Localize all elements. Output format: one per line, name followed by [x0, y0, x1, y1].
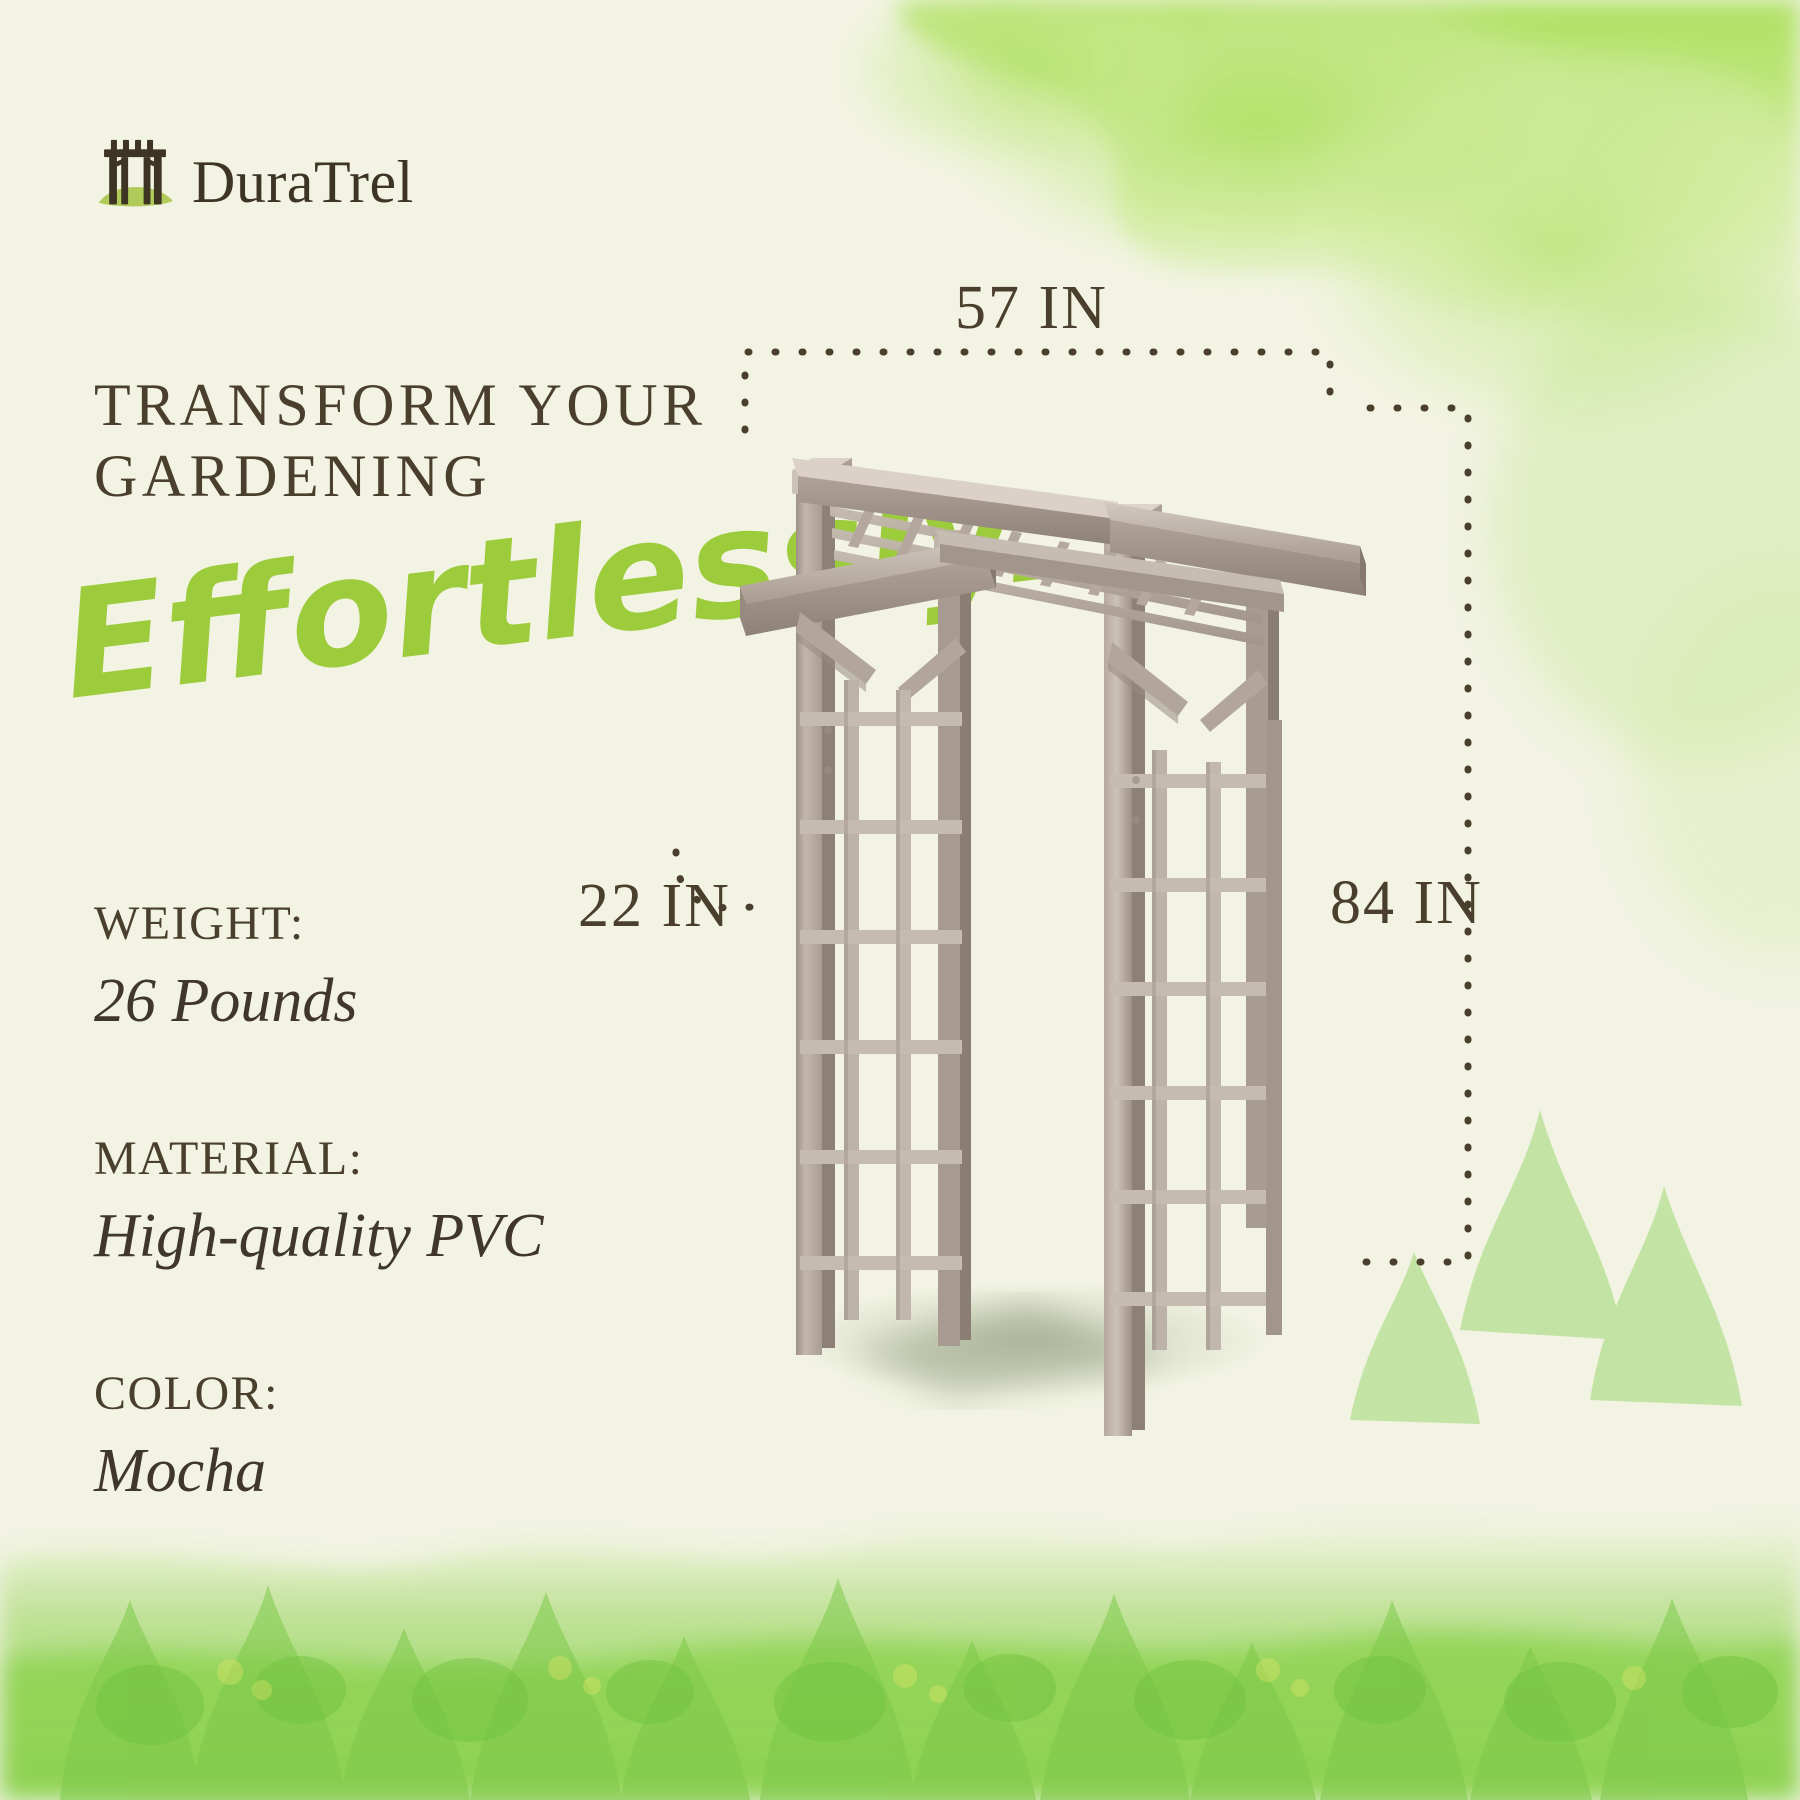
spec-material: MATERIAL: High-quality PVC — [94, 1135, 543, 1267]
spec-color-value: Mocha — [94, 1440, 279, 1502]
spec-material-value: High-quality PVC — [94, 1205, 543, 1267]
spec-color-label: COLOR: — [94, 1370, 279, 1418]
spec-weight-label: WEIGHT: — [94, 900, 358, 948]
dimension-depth-label: 22 IN — [578, 875, 731, 937]
spec-weight: WEIGHT: 26 Pounds — [94, 900, 358, 1032]
headline-line-1: TRANSFORM YOUR — [94, 372, 707, 438]
product-image-arbor — [700, 350, 1420, 1460]
dimension-width-label: 57 IN — [955, 277, 1108, 339]
brand-name: DuraTrel — [192, 152, 414, 212]
brand-logo: DuraTrel — [92, 128, 414, 212]
dimension-height-label: 84 IN — [1330, 872, 1483, 934]
arbor-pergola-icon — [92, 128, 178, 212]
spec-weight-value: 26 Pounds — [94, 970, 358, 1032]
script-tagline: Effortlessly. — [60, 520, 780, 750]
spec-material-label: MATERIAL: — [94, 1135, 543, 1183]
infographic-canvas: DuraTrel TRANSFORM YOUR GARDENING Effort… — [0, 0, 1800, 1800]
spec-color: COLOR: Mocha — [94, 1370, 279, 1502]
